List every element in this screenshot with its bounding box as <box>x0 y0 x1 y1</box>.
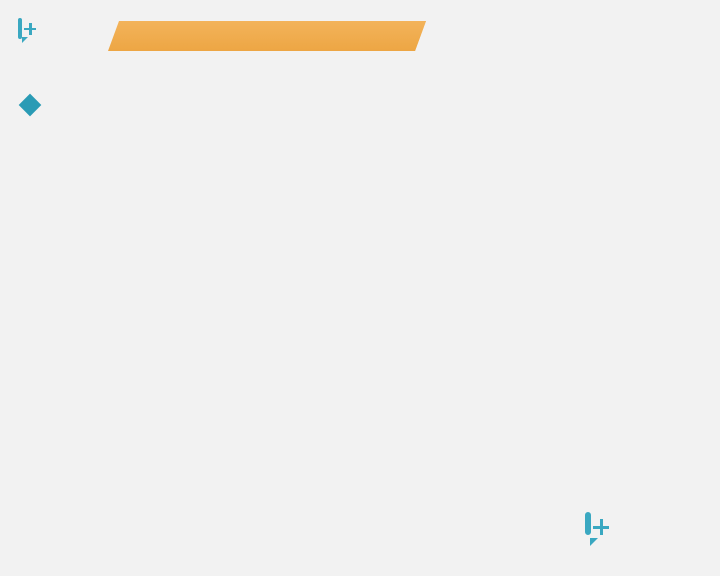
page-header <box>0 0 720 62</box>
alabmed-logo-icon <box>585 515 619 544</box>
header-brand-logo[interactable] <box>18 20 51 42</box>
report-banner <box>108 21 426 51</box>
logo-en-text <box>49 30 51 31</box>
footer-brand-logo[interactable] <box>585 515 626 544</box>
alabmed-logo-icon <box>18 20 44 42</box>
logo-wordmark <box>624 529 626 531</box>
diamond-bullet-icon <box>19 94 42 117</box>
logo-wordmark <box>49 30 51 32</box>
report-banner-title <box>108 21 426 51</box>
logo-en-text <box>624 529 626 530</box>
page-title-row <box>22 100 56 116</box>
